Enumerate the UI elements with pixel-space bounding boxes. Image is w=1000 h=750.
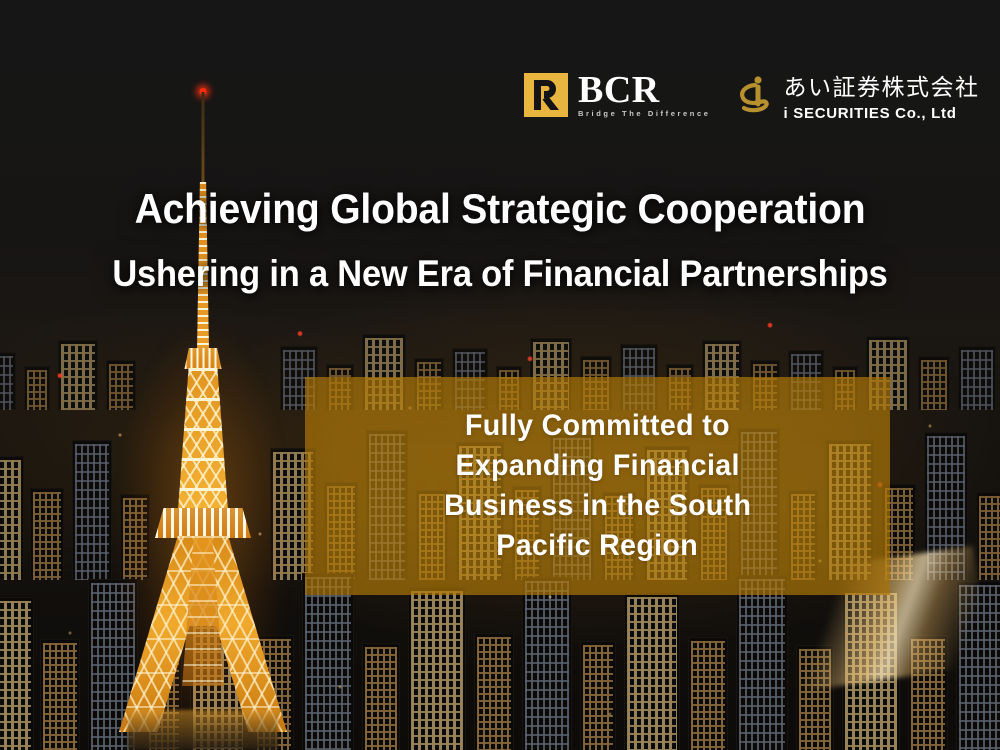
panel-line-1: Fully Committed to: [465, 406, 730, 446]
i-securities-swirl-icon: [733, 73, 773, 117]
headline: Achieving Global Strategic Cooperation: [35, 186, 965, 231]
isecurities-text-lockup: あい証券株式会社 i SECURITIES Co., Ltd: [784, 68, 980, 122]
gold-message-panel: Fully Committed to Expanding Financial B…: [305, 377, 890, 595]
logo-bar: BCR Bridge The Difference あい証券株式会社 i SEC…: [524, 68, 980, 122]
bcr-monogram-icon: [524, 73, 568, 117]
bcr-wordmark: BCR: [578, 72, 711, 108]
bcr-text-lockup: BCR Bridge The Difference: [578, 72, 711, 118]
isecurities-name-en: i SECURITIES Co., Ltd: [784, 105, 980, 122]
bcr-logo: BCR Bridge The Difference: [524, 72, 711, 118]
panel-line-3: Business in the South: [444, 486, 751, 526]
subheadline: Ushering in a New Era of Financial Partn…: [35, 254, 965, 294]
isecurities-name-jp: あい証券株式会社: [784, 68, 980, 102]
promotional-banner: BCR Bridge The Difference あい証券株式会社 i SEC…: [0, 0, 1000, 750]
bcr-tagline: Bridge The Difference: [578, 109, 711, 118]
isecurities-logo: あい証券株式会社 i SECURITIES Co., Ltd: [733, 68, 980, 122]
panel-line-4: Pacific Region: [497, 526, 699, 566]
panel-line-2: Expanding Financial: [455, 446, 739, 486]
